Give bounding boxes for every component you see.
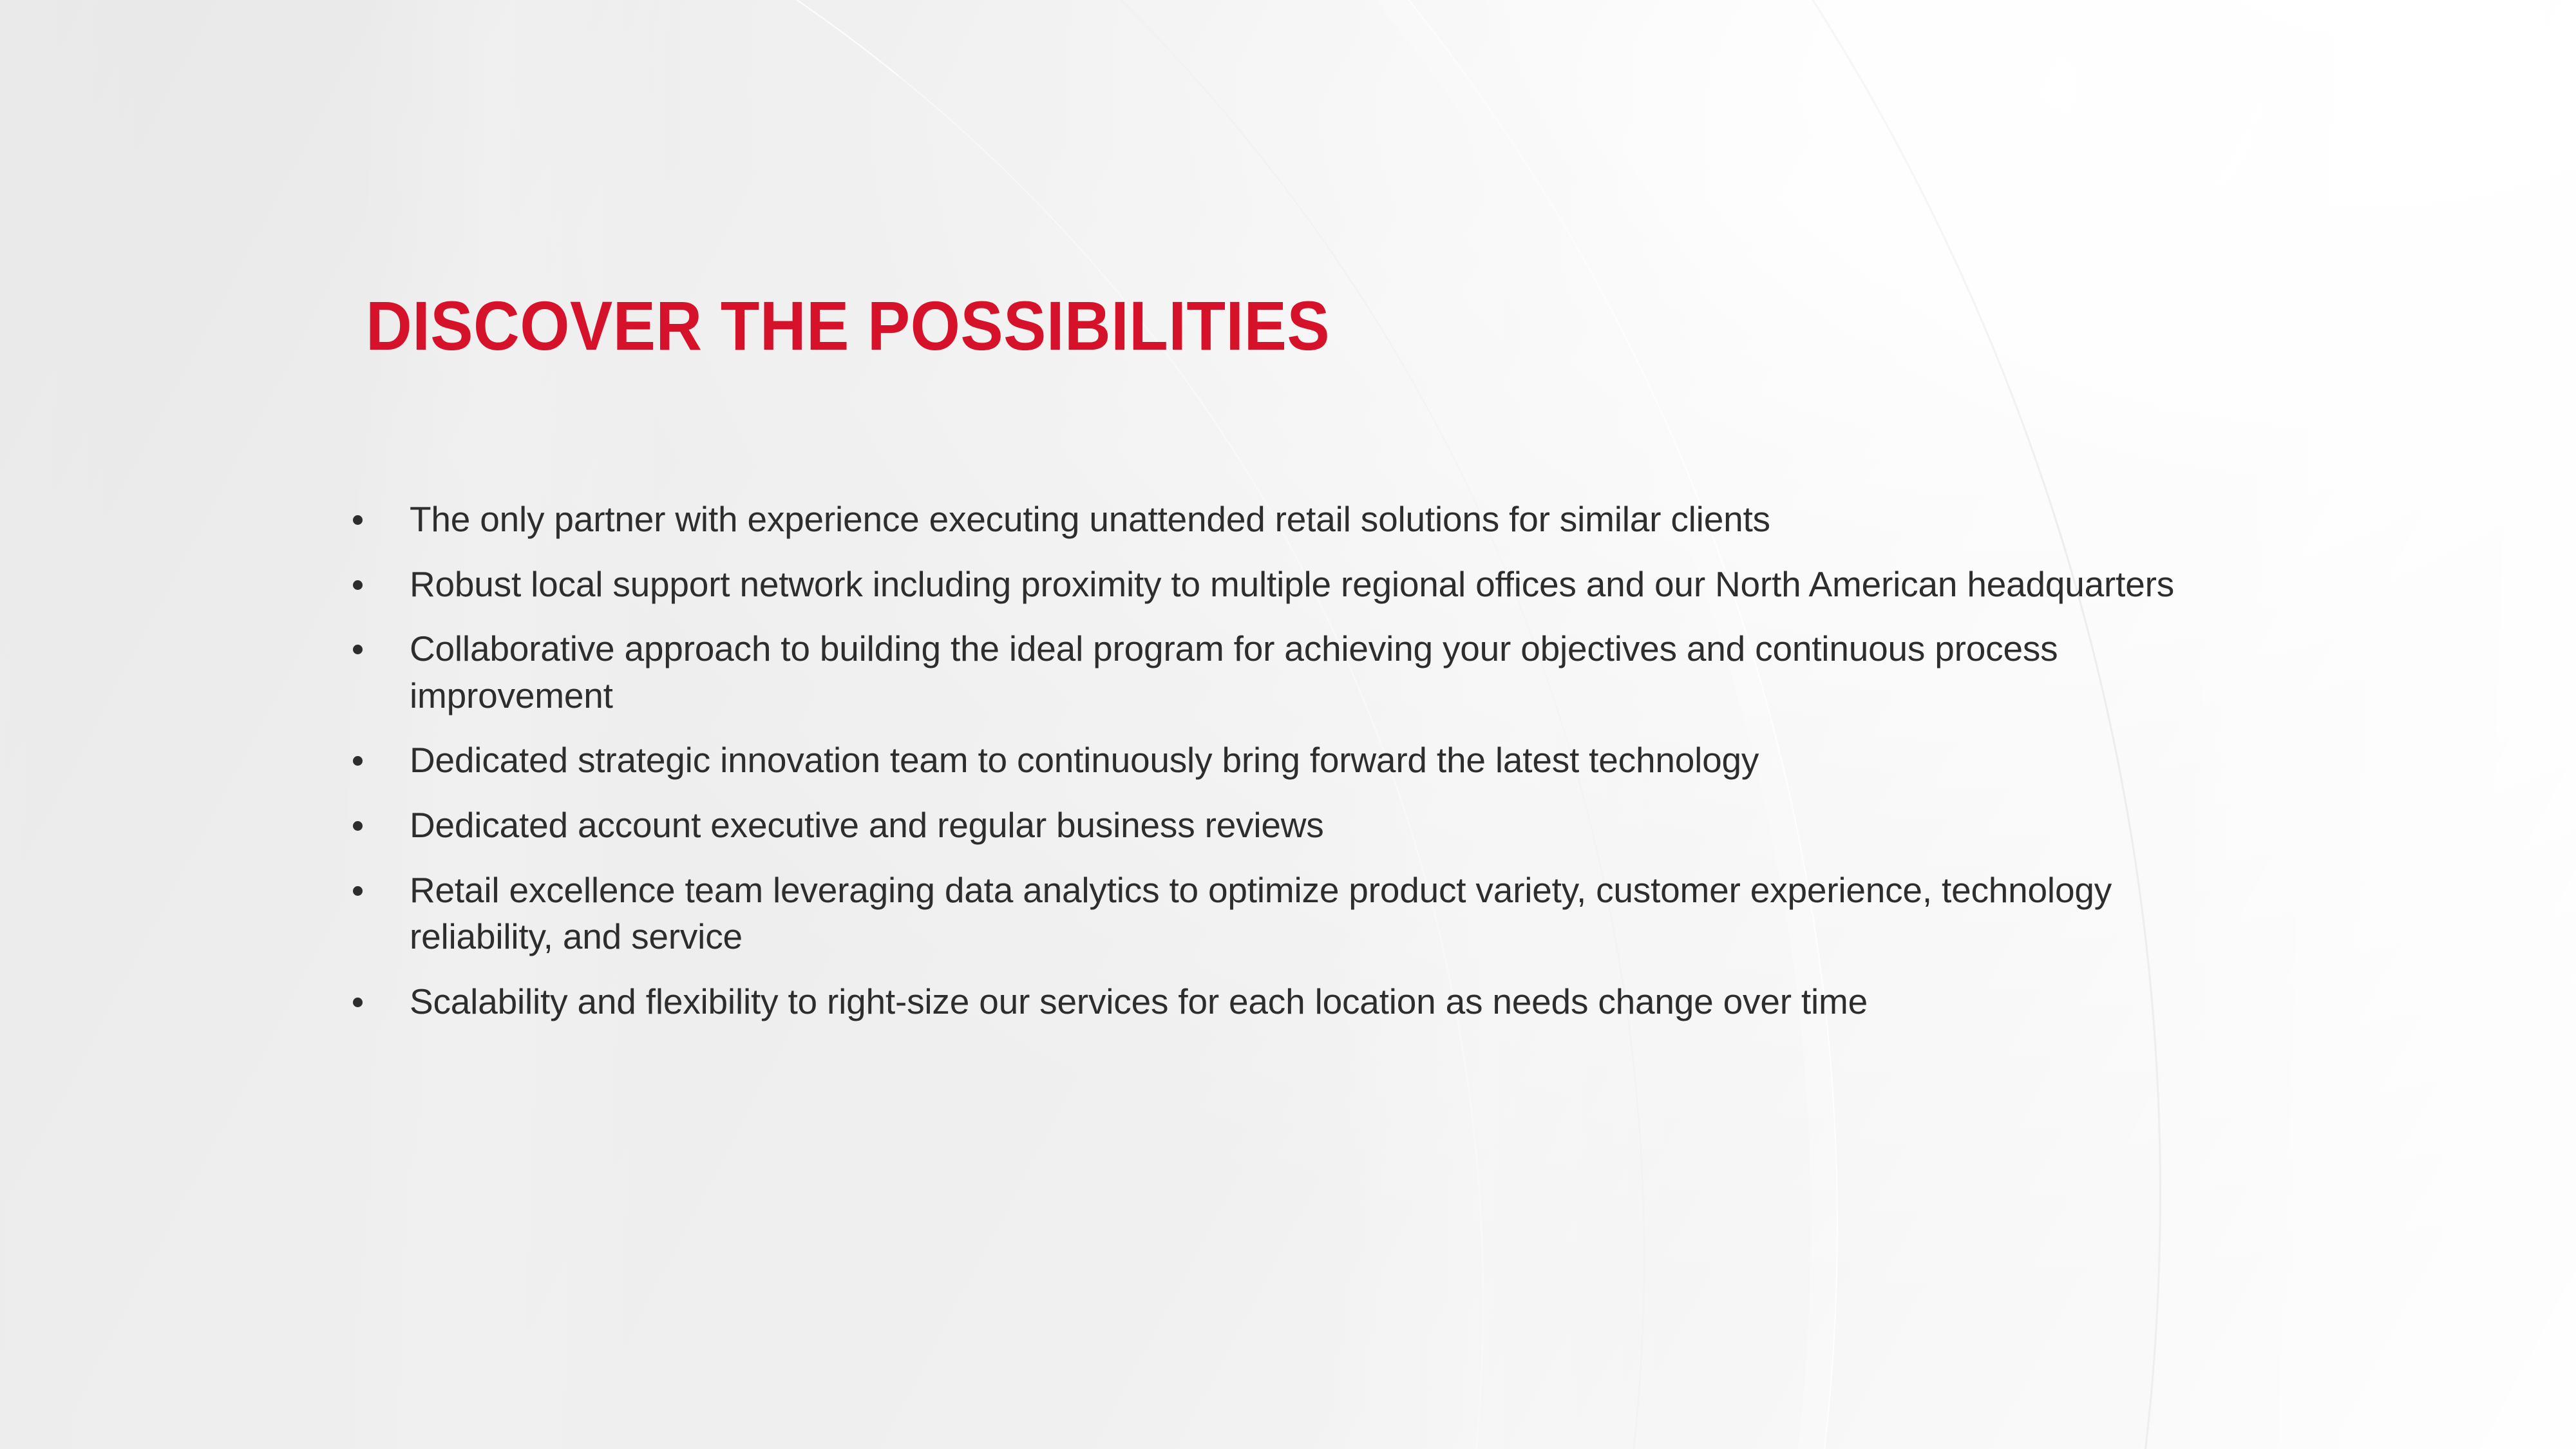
bullet-dot-icon xyxy=(353,645,363,654)
list-item-text: The only partner with experience executi… xyxy=(410,496,2177,543)
presentation-slide: DISCOVER THE POSSIBILITIES The only part… xyxy=(0,0,2576,1449)
bullet-dot-icon xyxy=(353,580,363,590)
list-item-text: Dedicated strategic innovation team to c… xyxy=(410,737,2177,784)
list-item-text: Collaborative approach to building the i… xyxy=(410,625,2177,719)
list-item: The only partner with experience executi… xyxy=(348,496,2177,543)
list-item-text: Retail excellence team leveraging data a… xyxy=(410,867,2177,960)
list-item: Robust local support network including p… xyxy=(348,561,2177,608)
list-item: Scalability and flexibility to right-siz… xyxy=(348,978,2177,1025)
bullet-dot-icon xyxy=(353,998,363,1007)
bullet-dot-icon xyxy=(353,515,363,525)
bullet-list: The only partner with experience executi… xyxy=(348,496,2177,1025)
bullet-dot-icon xyxy=(353,886,363,896)
list-item-text: Scalability and flexibility to right-siz… xyxy=(410,978,2177,1025)
page-title: DISCOVER THE POSSIBILITIES xyxy=(366,291,1330,361)
list-item-text: Robust local support network including p… xyxy=(410,561,2177,608)
list-item: Dedicated account executive and regular … xyxy=(348,802,2177,849)
list-item: Dedicated strategic innovation team to c… xyxy=(348,737,2177,784)
bullet-dot-icon xyxy=(353,756,363,766)
list-item: Retail excellence team leveraging data a… xyxy=(348,867,2177,960)
list-item: Collaborative approach to building the i… xyxy=(348,625,2177,719)
slide-content: DISCOVER THE POSSIBILITIES The only part… xyxy=(0,0,2576,1449)
bullet-dot-icon xyxy=(353,821,363,831)
list-item-text: Dedicated account executive and regular … xyxy=(410,802,2177,849)
